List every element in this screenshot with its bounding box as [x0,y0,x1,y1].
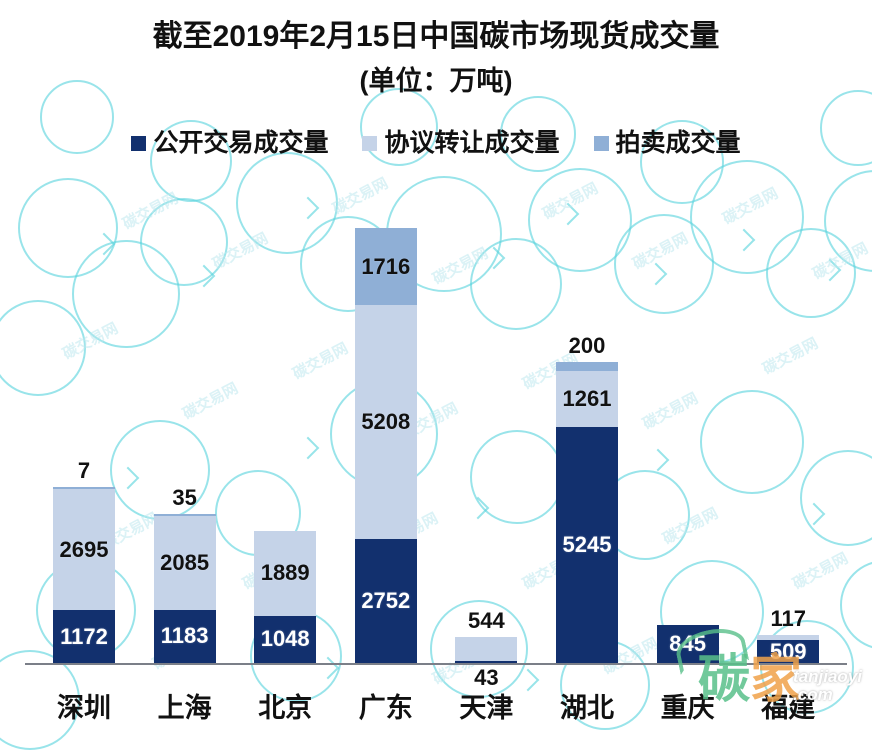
bar-segment-agreement[interactable]: 5208 [355,305,417,539]
x-axis-category-label: 福建 [757,695,819,722]
bar-segment-agreement[interactable]: 2085 [154,516,216,610]
bar-segment-value-external: 544 [455,610,517,632]
bar-group: 1183208535上海 [154,0,216,734]
bar-segment-agreement[interactable]: 1261 [556,371,618,428]
bar-group: 10481889北京 [254,0,316,734]
bar-stack[interactable]: 11722695 [53,487,115,663]
bar-segment-value-external: 43 [455,667,517,689]
bar-segment-auction[interactable] [53,487,115,489]
x-axis-category-label: 广东 [355,695,417,722]
bar-segment-auction[interactable] [154,514,216,516]
bar-segment-auction[interactable] [556,362,618,371]
legend-item-agreement[interactable]: 协议转让成交量 [362,131,559,156]
chart-subtitle: (单位：万吨) [0,66,872,97]
bar-segment-value: 5208 [361,411,410,433]
x-axis-category-label: 北京 [254,695,316,722]
bar-segment-value: 1261 [563,388,612,410]
bar-segment-value: 1889 [261,562,310,584]
bar-segment-value: 2695 [60,539,109,561]
chart-title-block: 截至2019年2月15日中国碳市场现货成交量 (单位：万吨) [0,0,872,97]
bar-segment-value: 1716 [361,256,410,278]
bar-stack[interactable] [455,637,517,663]
bar-group: 43544天津 [455,0,517,734]
legend-label: 拍卖成交量 [616,131,741,156]
bar-segment-open[interactable]: 845 [657,625,719,663]
bar-segment-open[interactable] [455,661,517,663]
bar-stack[interactable]: 845 [657,625,719,663]
bar-segment-agreement[interactable]: 1889 [254,531,316,616]
bar-segment-open[interactable]: 2752 [355,539,417,663]
bar-group: 509117福建 [757,0,819,734]
legend-label: 协议转让成交量 [384,131,559,156]
bar-segment-agreement[interactable] [455,637,517,661]
bar-stack[interactable]: 11832085 [154,514,216,663]
x-axis-category-label: 天津 [455,695,517,722]
legend-item-open[interactable]: 公开交易成交量 [131,131,328,156]
bar-segment-value: 1048 [261,628,310,650]
bar-segment-value: 1183 [161,625,209,647]
bar-segment-value-external: 200 [556,335,618,357]
bar-stack[interactable]: 52451261 [556,362,618,663]
bar-group: 845重庆 [657,0,719,734]
bar-segment-auction[interactable]: 1716 [355,228,417,305]
bar-group: 275252081716广东 [355,0,417,734]
legend-item-auction[interactable]: 拍卖成交量 [594,131,741,156]
bar-segment-agreement[interactable] [757,635,819,640]
bar-segment-open[interactable]: 1172 [53,610,115,663]
bar-group: 117226957深圳 [53,0,115,734]
bar-segment-open[interactable]: 5245 [556,427,618,663]
bar-segment-value: 5245 [563,534,612,556]
bar-segment-value: 2752 [361,590,410,612]
bar-segment-value: 845 [669,633,706,655]
bar-segment-value: 1172 [60,626,108,648]
chart-title: 截至2019年2月15日中国碳市场现货成交量 [0,20,872,55]
x-axis-line [25,663,847,665]
x-axis-category-label: 上海 [154,695,216,722]
legend-swatch-icon [594,136,609,151]
bar-stack[interactable]: 509 [757,635,819,663]
bar-group: 52451261200湖北 [556,0,618,734]
legend-swatch-icon [131,136,146,151]
legend-label: 公开交易成交量 [153,131,328,156]
x-axis-category-label: 重庆 [657,695,719,722]
bar-segment-open[interactable]: 509 [757,640,819,663]
bar-segment-value-external: 117 [757,608,819,630]
plot-area: 117226957深圳1183208535上海10481889北京2752520… [0,0,872,734]
x-axis-category-label: 深圳 [53,695,115,722]
bar-stack[interactable]: 10481889 [254,531,316,663]
bar-segment-agreement[interactable]: 2695 [53,489,115,610]
bar-segment-value-external: 35 [154,487,216,509]
bar-segment-value-external: 7 [53,460,115,482]
chart-legend: 公开交易成交量协议转让成交量拍卖成交量 [0,131,872,156]
bar-segment-value: 509 [770,641,807,663]
bar-stack[interactable]: 275252081716 [355,228,417,663]
chart-container: 碳交易网碳交易网碳交易网碳交易网碳交易网碳交易网碳交易网碳交易网碳交易网碳交易网… [0,0,872,734]
bar-segment-open[interactable]: 1183 [154,610,216,663]
bar-segment-open[interactable]: 1048 [254,616,316,663]
x-axis-category-label: 湖北 [556,695,618,722]
legend-swatch-icon [362,136,377,151]
bar-segment-value: 2085 [160,552,209,574]
